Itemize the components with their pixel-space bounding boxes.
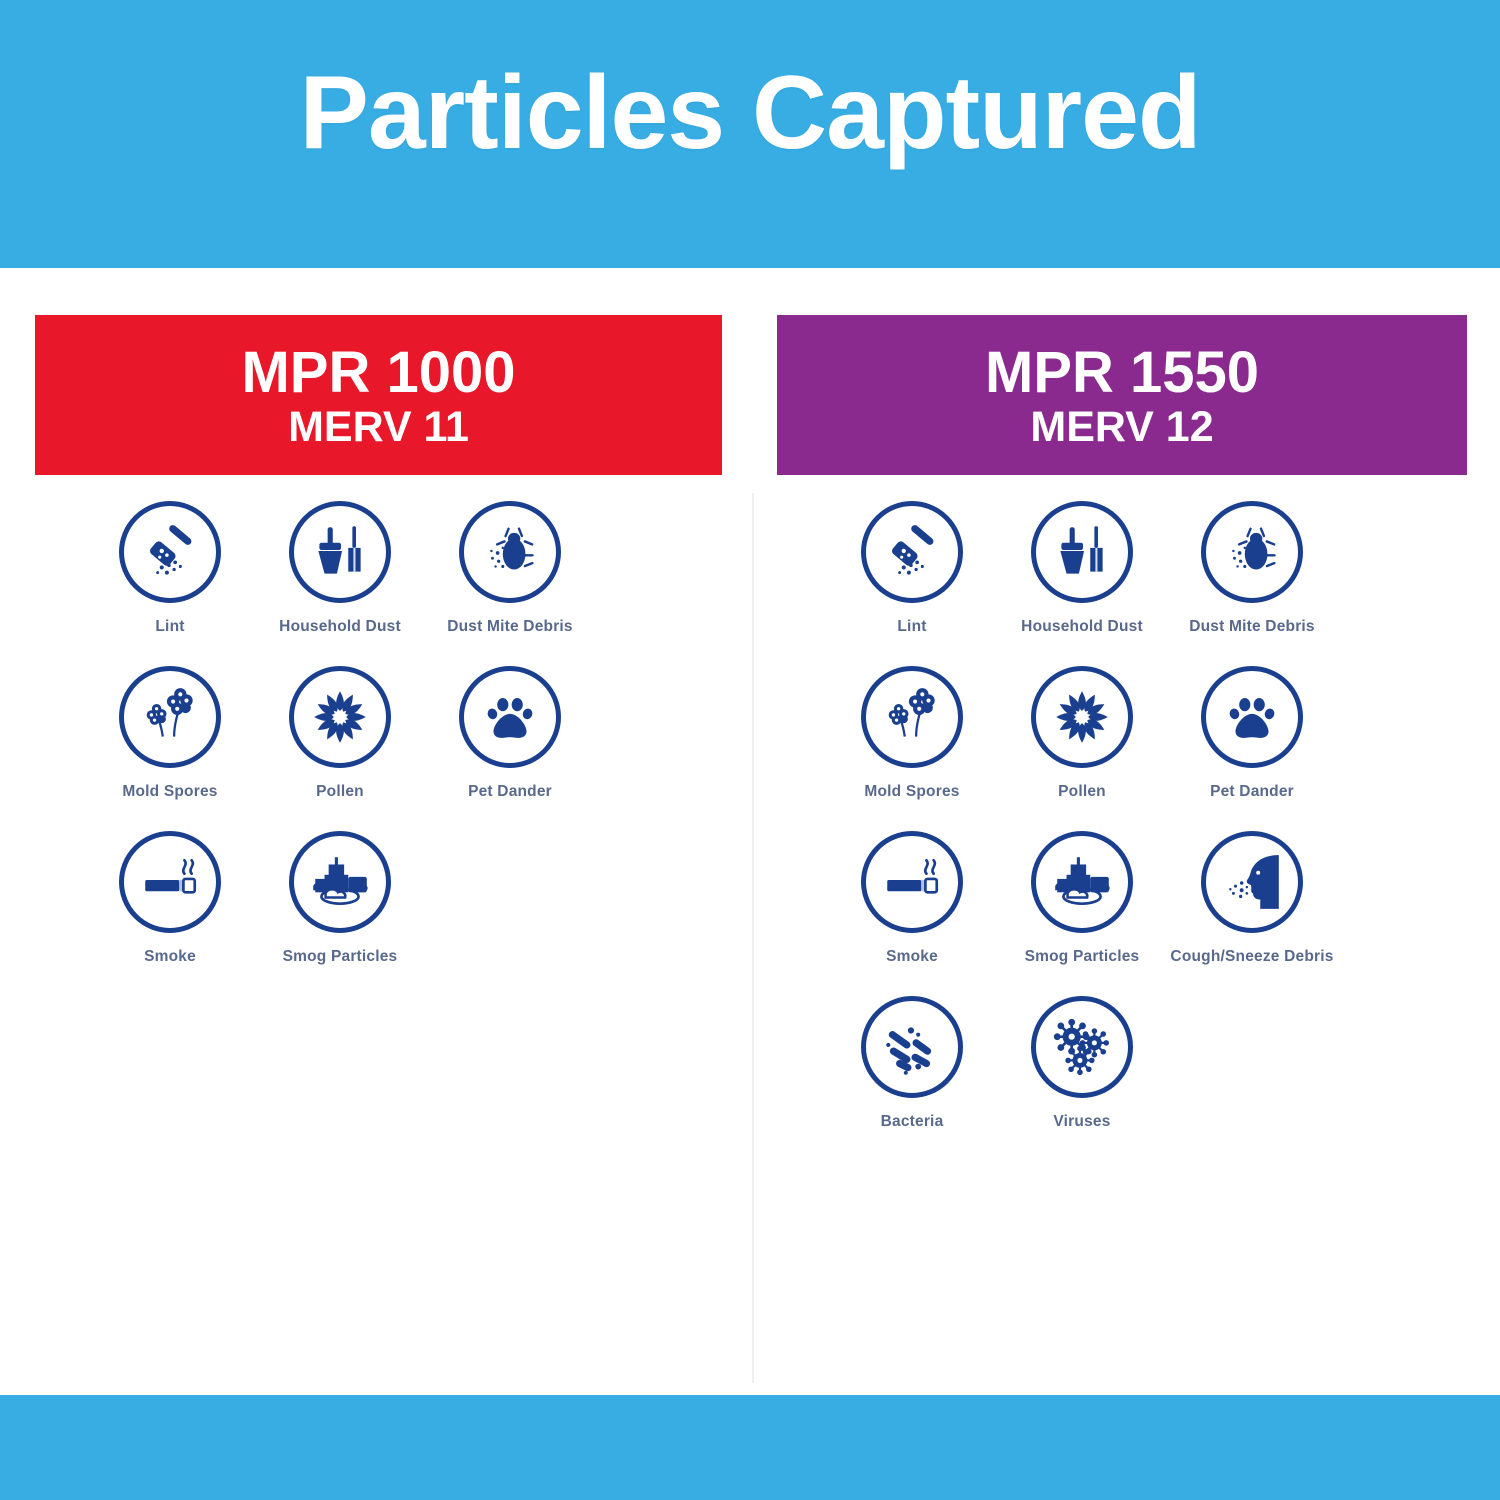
particle-item: Household Dust <box>255 501 425 636</box>
particle-label: Dust Mite Debris <box>1189 618 1315 636</box>
particle-label: Smog Particles <box>1025 948 1140 966</box>
merv-rating-label: MERV 12 <box>1030 402 1213 453</box>
particle-label: Pollen <box>1058 783 1106 801</box>
smog-city-icon <box>1031 831 1133 933</box>
particle-item: Cough/Sneeze Debris <box>1167 831 1337 966</box>
particle-label: Smoke <box>886 948 938 966</box>
paw-print-icon <box>459 666 561 768</box>
smog-city-icon <box>289 831 391 933</box>
merv-rating-label: MERV 11 <box>288 402 469 453</box>
particle-item: Pollen <box>997 666 1167 801</box>
particle-item: Lint <box>85 501 255 636</box>
particle-label: Pet Dander <box>1210 783 1294 801</box>
particle-item: Pet Dander <box>425 666 595 801</box>
particle-item: Mold Spores <box>85 666 255 801</box>
mold-spore-flowers-icon <box>861 666 963 768</box>
particle-item: Viruses <box>997 996 1167 1131</box>
particle-label: Mold Spores <box>122 783 217 801</box>
dustpan-broom-icon <box>1031 501 1133 603</box>
particle-item: Smog Particles <box>255 831 425 966</box>
particle-item: Pet Dander <box>1167 666 1337 801</box>
cigarette-smoke-icon <box>861 831 963 933</box>
mpr-rating-label: MPR 1000 <box>241 343 515 402</box>
virus-icon <box>1031 996 1133 1098</box>
particle-label: Lint <box>155 618 184 636</box>
particle-label: Cough/Sneeze Debris <box>1170 948 1333 966</box>
dust-mite-bug-icon <box>1201 501 1303 603</box>
particle-item: Mold Spores <box>827 666 997 801</box>
dustpan-broom-icon <box>289 501 391 603</box>
particle-item: Lint <box>827 501 997 636</box>
particle-item: Dust Mite Debris <box>425 501 595 636</box>
particle-label: Smoke <box>144 948 196 966</box>
column-divider <box>752 493 754 1383</box>
particle-label: Viruses <box>1053 1113 1110 1131</box>
page-title: Particles Captured <box>0 0 1500 268</box>
lint-brush-icon <box>861 501 963 603</box>
lint-brush-icon <box>119 501 221 603</box>
particle-label: Pet Dander <box>468 783 552 801</box>
particle-item: Smog Particles <box>997 831 1167 966</box>
bacteria-icon <box>861 996 963 1098</box>
particle-label: Dust Mite Debris <box>447 618 573 636</box>
particle-label: Pollen <box>316 783 364 801</box>
paw-print-icon <box>1201 666 1303 768</box>
particle-label: Bacteria <box>881 1113 944 1131</box>
column-mpr-1550: MPR 1550 MERV 12 Lint <box>777 268 1467 1161</box>
particle-item: Pollen <box>255 666 425 801</box>
pollen-burst-icon <box>289 666 391 768</box>
column-mpr-1000: MPR 1000 MERV 11 Lint <box>35 268 722 996</box>
particle-label: Mold Spores <box>864 783 959 801</box>
particle-grid-mpr-1550: Lint Household Dust <box>777 501 1467 1161</box>
particle-label: Household Dust <box>1021 618 1143 636</box>
dust-mite-bug-icon <box>459 501 561 603</box>
bottom-blue-band <box>0 1395 1500 1500</box>
particle-label: Lint <box>897 618 926 636</box>
particle-item: Dust Mite Debris <box>1167 501 1337 636</box>
particle-item: Smoke <box>827 831 997 966</box>
pollen-burst-icon <box>1031 666 1133 768</box>
mpr-rating-label: MPR 1550 <box>985 343 1259 402</box>
column-header-mpr-1550: MPR 1550 MERV 12 <box>777 315 1467 475</box>
particle-item: Bacteria <box>827 996 997 1131</box>
content-area: MPR 1000 MERV 11 Lint <box>0 268 1500 1395</box>
cigarette-smoke-icon <box>119 831 221 933</box>
cough-sneeze-head-icon <box>1201 831 1303 933</box>
particle-item: Smoke <box>85 831 255 966</box>
particle-label: Smog Particles <box>283 948 398 966</box>
particle-item: Household Dust <box>997 501 1167 636</box>
particle-label: Household Dust <box>279 618 401 636</box>
particle-grid-mpr-1000: Lint Household Dust <box>35 501 722 996</box>
column-header-mpr-1000: MPR 1000 MERV 11 <box>35 315 722 475</box>
mold-spore-flowers-icon <box>119 666 221 768</box>
